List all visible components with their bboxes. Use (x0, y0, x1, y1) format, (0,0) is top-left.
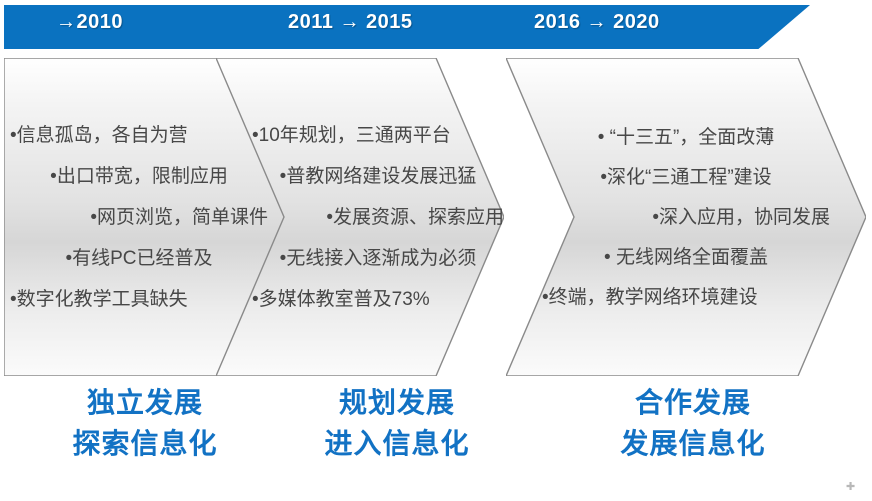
stage-3-bullet-list: • “十三五”，全面改薄 •深化“三通工程”建设 •深入应用，协同发展 • 无线… (536, 58, 836, 376)
stage-3-caption-line-2: 发展信息化 (548, 424, 838, 465)
header-period-label-2: 2011 → 2015 (288, 11, 413, 34)
list-item: •10年规划，三通两平台 (252, 126, 504, 145)
slide-canvas: →2010 2011 → 2015 2016 → 2020 •信息孤岛，各自为营… (0, 0, 872, 501)
stage-3-caption-line-1: 合作发展 (548, 383, 838, 424)
list-item: •网页浏览，简单课件 (10, 208, 268, 227)
stage-2-caption-line-1: 规划发展 (252, 383, 542, 424)
list-item: •出口带宽，限制应用 (10, 167, 268, 186)
list-item: •深入应用，协同发展 (542, 208, 830, 227)
corner-plus-marker: ✚ (846, 483, 855, 492)
stage-2-caption: 规划发展 进入信息化 (252, 383, 542, 464)
list-item: •深化“三通工程”建设 (542, 168, 830, 187)
stage-3-caption: 合作发展 发展信息化 (548, 383, 838, 464)
list-item: •无线接入逐渐成为必须 (252, 249, 504, 268)
list-item: •数字化教学工具缺失 (10, 290, 268, 309)
list-item: • 无线网络全面覆盖 (542, 248, 830, 267)
header-period-label-1: →2010 (56, 11, 123, 34)
list-item: •终端，教学网络环境建设 (542, 288, 830, 307)
stage-2-caption-line-2: 进入信息化 (252, 424, 542, 465)
header-period-label-3: 2016 → 2020 (534, 11, 660, 34)
list-item: •多媒体教室普及73% (252, 290, 504, 309)
stage-1-caption-line-1: 独立发展 (0, 383, 290, 424)
list-item: • “十三五”，全面改薄 (542, 128, 830, 147)
stage-1-caption-line-2: 探索信息化 (0, 424, 290, 465)
stage-1-caption: 独立发展 探索信息化 (0, 383, 290, 464)
stage-1-bullet-list: •信息孤岛，各自为营 •出口带宽，限制应用 •网页浏览，简单课件 •有线PC已经… (4, 58, 274, 376)
list-item: •信息孤岛，各自为营 (10, 126, 268, 145)
list-item: •发展资源、探索应用 (252, 208, 504, 227)
list-item: •普教网络建设发展迅猛 (252, 167, 504, 186)
stage-2-bullet-list: •10年规划，三通两平台 •普教网络建设发展迅猛 •发展资源、探索应用 •无线接… (246, 58, 510, 376)
list-item: •有线PC已经普及 (10, 249, 268, 268)
